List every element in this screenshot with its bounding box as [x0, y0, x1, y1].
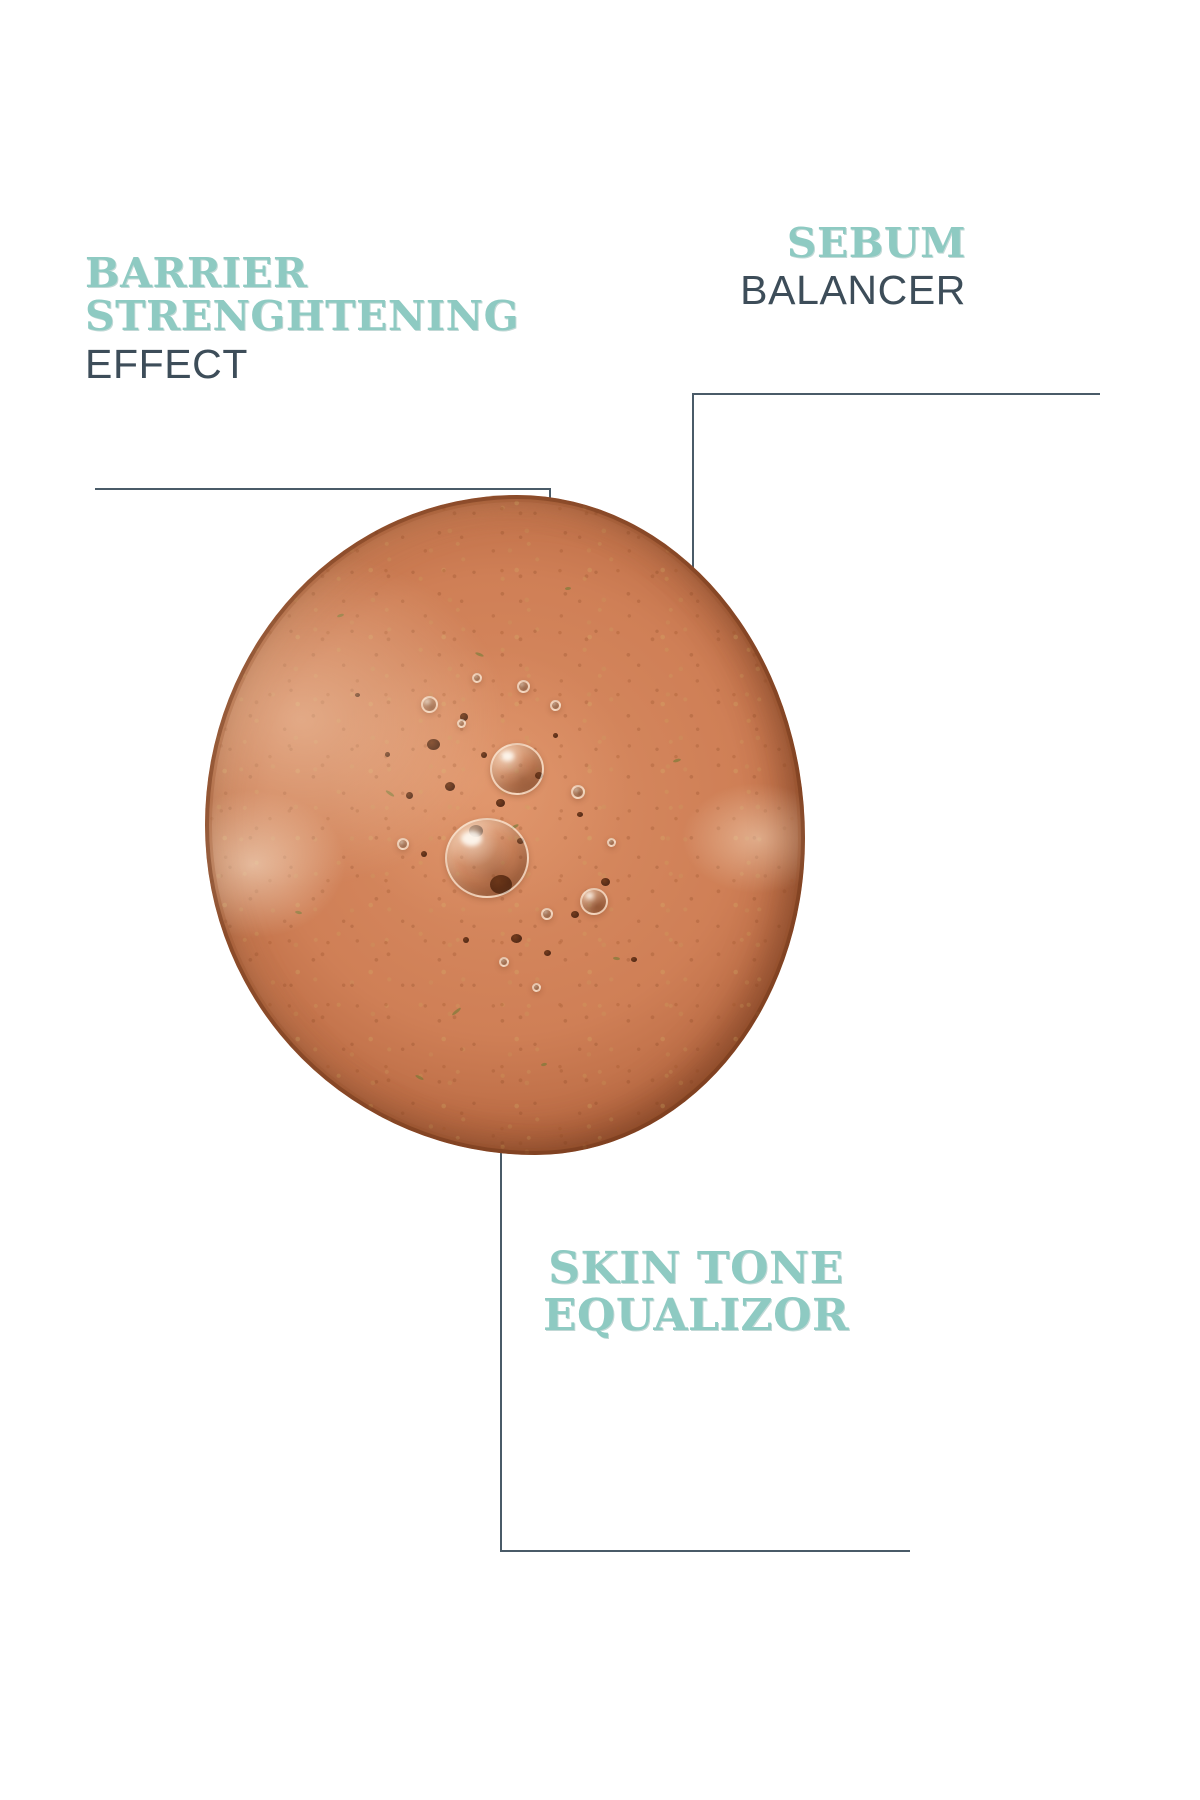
callout-barrier-keyword-line-1: BARRIER — [85, 252, 519, 295]
ingredient-swatch-image — [205, 495, 805, 1155]
leader-line-skin-tone-horizontal — [500, 1550, 910, 1552]
callout-barrier-strengthening: BARRIER STRENGHTENING EFFECT — [85, 252, 519, 386]
infographic-canvas: BARRIER STRENGHTENING EFFECT SEBUM BALAN… — [0, 0, 1200, 1800]
callout-sebum-balancer: SEBUM BALANCER — [740, 222, 966, 313]
callout-skin-tone-keyword-line-2: EQUALIZOR — [536, 1293, 856, 1340]
callout-barrier-keyword-line-2: STRENGHTENING — [85, 295, 519, 338]
callout-sebum-subtitle: BALANCER — [740, 269, 966, 312]
swatch-body — [205, 495, 805, 1155]
callout-sebum-keyword-line-1: SEBUM — [740, 222, 966, 265]
leader-line-barrier-horizontal — [95, 488, 551, 490]
callout-skin-tone-equalizor: SKIN TONE EQUALIZOR — [536, 1246, 856, 1339]
leader-line-sebum-horizontal — [692, 393, 1100, 395]
callout-skin-tone-keyword-line-1: SKIN TONE — [536, 1246, 856, 1293]
callout-barrier-subtitle: EFFECT — [85, 343, 519, 386]
